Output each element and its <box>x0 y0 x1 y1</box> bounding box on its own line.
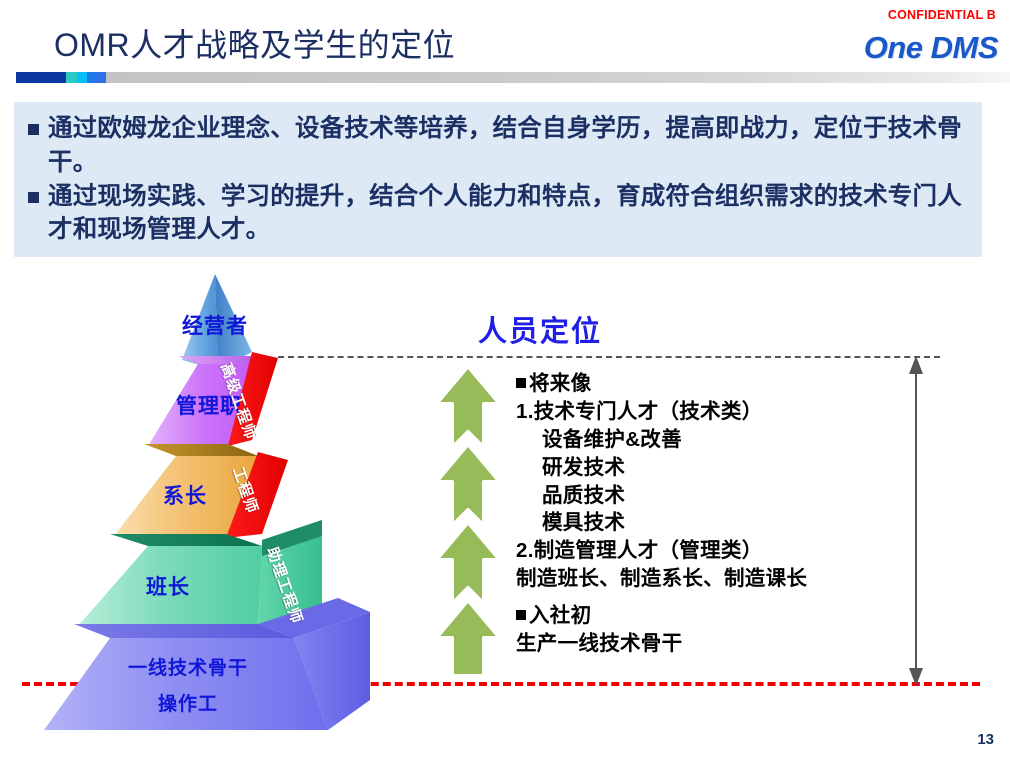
bullet-item: 通过现场实践、学习的提升，结合个人能力和特点，育成符合组织需求的技术专门人才和现… <box>14 180 982 248</box>
arrowhead-up <box>909 356 923 374</box>
pyramid-level4-front <box>78 546 262 626</box>
arrowhead-down <box>909 668 923 686</box>
rule-segment-cyan <box>77 72 87 83</box>
growth-arrow-icon <box>432 362 504 685</box>
header-rule <box>0 72 1010 83</box>
page-title: OMR人才战略及学生的定位 <box>54 20 455 66</box>
list-item-entry-role: 生产一线技术骨干 <box>516 630 936 658</box>
pyramid-level3-top <box>144 444 258 456</box>
square-bullet-icon <box>28 192 39 203</box>
growth-arrow-svg <box>432 362 504 680</box>
bullet-text: 通过现场实践、学习的提升，结合个人能力和特点，育成符合组织需求的技术专门人才和现… <box>48 180 968 248</box>
arrow-chevron-3 <box>436 522 500 604</box>
arrow-chevron-4 <box>436 600 500 676</box>
diagram-area: 经营者 管理职 系长 班长 一线技术骨干 操作工 高级工程师 工程师 助理工程师 <box>0 258 1010 762</box>
slide-root: CONFIDENTIAL B One DMS OMR人才战略及学生的定位 通过欧… <box>0 0 1010 762</box>
list-item-future-state: 将来像 <box>516 370 936 398</box>
arrow-chevron-2 <box>436 444 500 526</box>
rule-segment-blue-a <box>87 72 96 83</box>
bullet-item: 通过欧姆龙企业理念、设备技术等培养，结合自身学历，提高即战力，定位于技术骨干。 <box>14 102 982 180</box>
arrow-chevron-1 <box>436 366 500 448</box>
rule-segment-navy <box>16 72 66 83</box>
role-description-list: 将来像 1.技术专门人才（技术类） 设备维护&改善 研发技术 品质技术 模具技术… <box>516 370 936 658</box>
double-arrow-svg <box>905 356 927 686</box>
page-number: 13 <box>977 731 994 748</box>
list-item-mfg-roles: 制造班长、制造系长、制造课长 <box>516 565 936 593</box>
rule-segment-teal <box>66 72 77 83</box>
list-item-mfg-management: 2.制造管理人才（管理类） <box>516 537 936 565</box>
one-dms-logo: One DMS <box>864 30 998 66</box>
pyramid-apex-side <box>215 274 252 370</box>
section-heading: 人员定位 <box>478 308 602 350</box>
career-pyramid: 经营者 管理职 系长 班长 一线技术骨干 操作工 高级工程师 工程师 助理工程师 <box>30 268 430 748</box>
list-item-rd-tech: 研发技术 <box>516 454 936 482</box>
summary-panel: 通过欧姆龙企业理念、设备技术等培养，结合自身学历，提高即战力，定位于技术骨干。 … <box>14 102 982 257</box>
list-item-equipment-maintenance: 设备维护&改善 <box>516 426 936 454</box>
list-item-tech-specialist: 1.技术专门人才（技术类） <box>516 398 936 426</box>
rule-segment-blue-b <box>96 72 106 83</box>
rule-segment-grey <box>106 72 1010 83</box>
span-double-arrow-icon <box>905 356 927 691</box>
square-bullet-icon <box>28 124 39 135</box>
pyramid-svg <box>30 268 430 748</box>
bullet-text: 通过欧姆龙企业理念、设备技术等培养，结合自身学历，提高即战力，定位于技术骨干。 <box>48 112 968 180</box>
confidential-marking: CONFIDENTIAL B <box>888 8 996 22</box>
list-item-mold-tech: 模具技术 <box>516 509 936 537</box>
pyramid-base-front <box>44 638 328 730</box>
pyramid-base-top <box>74 624 294 638</box>
list-spacer <box>516 593 936 602</box>
pyramid-apex-front <box>182 274 218 370</box>
list-item-quality-tech: 品质技术 <box>516 482 936 510</box>
list-item-entry-stage: 入社初 <box>516 602 936 630</box>
